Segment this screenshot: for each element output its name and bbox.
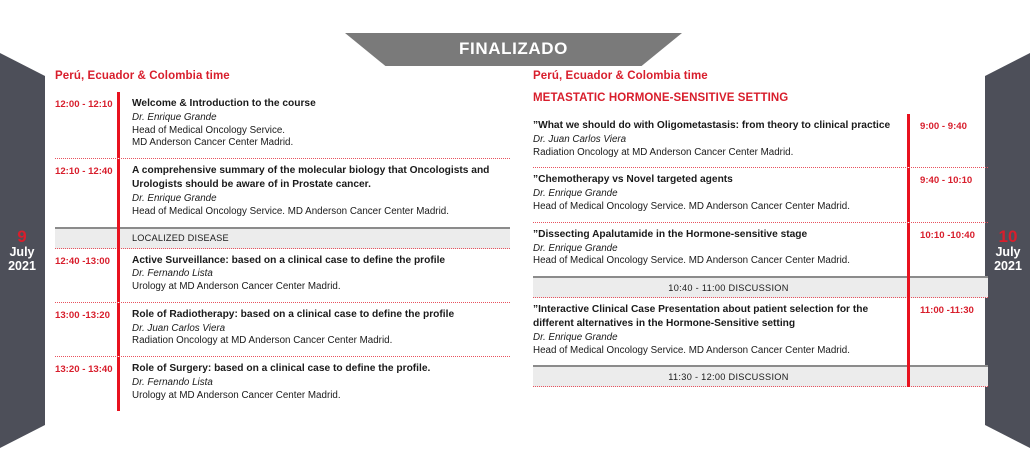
schedule-item-affiliation: Head of Medical Oncology Service. MD And… [533,345,895,358]
schedule-item-body: Role of Surgery: based on a clinical cas… [120,357,510,410]
schedule-item-speaker: Dr. Juan Carlos Viera [533,134,895,147]
schedule-item-time: 11:00 -11:30 [910,298,988,365]
status-badge: FINALIZADO [459,40,568,59]
timezone-label-right: Perú, Ecuador & Colombia time [533,70,988,82]
day-tab-right-day: 10 [986,228,1030,246]
schedule-section-bar: 11:30 - 12:00 DISCUSSION [533,365,988,387]
day-tab-left-month: July [0,246,44,260]
schedule-item[interactable]: ”Chemotherapy vs Novel targeted agentsDr… [533,168,988,221]
agenda-column-day9: Perú, Ecuador & Colombia time 12:00 - 12… [55,70,510,411]
schedule-section-label: LOCALIZED DISEASE [55,233,229,243]
schedule-section-label: 11:30 - 12:00 DISCUSSION [668,372,852,382]
timeline-rail-segment [907,365,910,387]
schedule-item-time: 10:10 -10:40 [910,223,988,276]
schedule-item-body: Active Surveillance: based on a clinical… [120,249,510,302]
schedule-item-title: ”What we should do with Oligometastasis:… [533,119,895,133]
schedule-item-title: ”Dissecting Apalutamide in the Hormone-s… [533,228,895,242]
schedule-item-affiliation: Head of Medical Oncology Service. [132,125,510,138]
schedule-item-speaker: Dr. Enrique Grande [132,193,510,206]
schedule-list-right: ”What we should do with Oligometastasis:… [533,114,988,387]
schedule-item[interactable]: 12:40 -13:00Active Surveillance: based o… [55,249,510,302]
schedule-item-title: Active Surveillance: based on a clinical… [132,254,510,268]
schedule-item-title: ”Interactive Clinical Case Presentation … [533,303,895,331]
timeline-rail-segment [117,227,120,249]
schedule-item-body: Role of Radiotherapy: based on a clinica… [120,303,510,356]
schedule-item-title: Role of Surgery: based on a clinical cas… [132,362,510,376]
day-tab-right-month: July [986,246,1030,260]
schedule-item-time: 12:00 - 12:10 [55,92,117,158]
schedule-item-body: ”What we should do with Oligometastasis:… [533,114,907,167]
schedule-item-time: 9:00 - 9:40 [910,114,988,167]
timezone-label-left: Perú, Ecuador & Colombia time [55,70,510,82]
schedule-item-body: ”Chemotherapy vs Novel targeted agentsDr… [533,168,907,221]
schedule-item-affiliation: Urology at MD Anderson Cancer Center Mad… [132,390,510,403]
schedule-item[interactable]: ”Interactive Clinical Case Presentation … [533,298,988,365]
schedule-section-label: 10:40 - 11:00 DISCUSSION [668,283,852,293]
schedule-item-time: 9:40 - 10:10 [910,168,988,221]
schedule-item-title: A comprehensive summary of the molecular… [132,164,510,192]
day-tab-left[interactable]: 9 July 2021 [0,30,60,450]
schedule-section-bar: 10:40 - 11:00 DISCUSSION [533,276,988,298]
schedule-item-speaker: Dr. Fernando Lista [132,268,510,281]
schedule-item-affiliation: Urology at MD Anderson Cancer Center Mad… [132,281,510,294]
schedule-item-body: ”Dissecting Apalutamide in the Hormone-s… [533,223,907,276]
schedule-item-speaker: Dr. Enrique Grande [533,188,895,201]
schedule-item[interactable]: 12:10 - 12:40A comprehensive summary of … [55,159,510,226]
schedule-item-time: 13:20 - 13:40 [55,357,117,410]
schedule-item-speaker: Dr. Fernando Lista [132,377,510,390]
day-tab-left-date: 9 July 2021 [0,228,60,273]
schedule-section-bar: LOCALIZED DISEASE [55,227,510,249]
schedule-item-time: 12:10 - 12:40 [55,159,117,226]
timeline-rail-segment [907,276,910,298]
status-banner: FINALIZADO [345,33,682,66]
day-tab-left-day: 9 [0,228,44,246]
section-title-right: METASTATIC HORMONE-SENSITIVE SETTING [533,92,988,104]
schedule-item-affiliation: Radiation Oncology at MD Anderson Cancer… [533,147,895,160]
schedule-item-affiliation: Head of Medical Oncology Service. MD And… [533,255,895,268]
schedule-item-title: ”Chemotherapy vs Novel targeted agents [533,173,895,187]
schedule-item-body: A comprehensive summary of the molecular… [120,159,510,226]
schedule-item-body: ”Interactive Clinical Case Presentation … [533,298,907,365]
schedule-item-speaker: Dr. Enrique Grande [533,332,895,345]
schedule-item-affiliation: Radiation Oncology at MD Anderson Cancer… [132,335,510,348]
schedule-item-time: 13:00 -13:20 [55,303,117,356]
schedule-item-affiliation: Head of Medical Oncology Service. MD And… [132,206,510,219]
agenda-column-day10: Perú, Ecuador & Colombia time METASTATIC… [533,70,988,387]
schedule-item-affiliation: MD Anderson Cancer Center Madrid. [132,137,510,150]
schedule-item[interactable]: ”What we should do with Oligometastasis:… [533,114,988,167]
schedule-item-affiliation: Head of Medical Oncology Service. MD And… [533,201,895,214]
schedule-item-speaker: Dr. Enrique Grande [132,112,510,125]
schedule-item-time: 12:40 -13:00 [55,249,117,302]
schedule-item-speaker: Dr. Enrique Grande [533,243,895,256]
schedule-item[interactable]: 12:00 - 12:10Welcome & Introduction to t… [55,92,510,158]
schedule-item-title: Welcome & Introduction to the course [132,97,510,111]
day-tab-left-year: 2021 [0,260,44,274]
schedule-item[interactable]: 13:00 -13:20Role of Radiotherapy: based … [55,303,510,356]
schedule-item[interactable]: ”Dissecting Apalutamide in the Hormone-s… [533,223,988,276]
schedule-list-left: 12:00 - 12:10Welcome & Introduction to t… [55,92,510,411]
schedule-item-speaker: Dr. Juan Carlos Viera [132,323,510,336]
schedule-item-title: Role of Radiotherapy: based on a clinica… [132,308,510,322]
schedule-item-body: Welcome & Introduction to the courseDr. … [120,92,510,158]
day-tab-right-year: 2021 [986,260,1030,274]
agenda-poster: FINALIZADO 9 July 2021 10 July 2021 Perú… [0,0,1030,450]
schedule-item[interactable]: 13:20 - 13:40Role of Surgery: based on a… [55,357,510,410]
